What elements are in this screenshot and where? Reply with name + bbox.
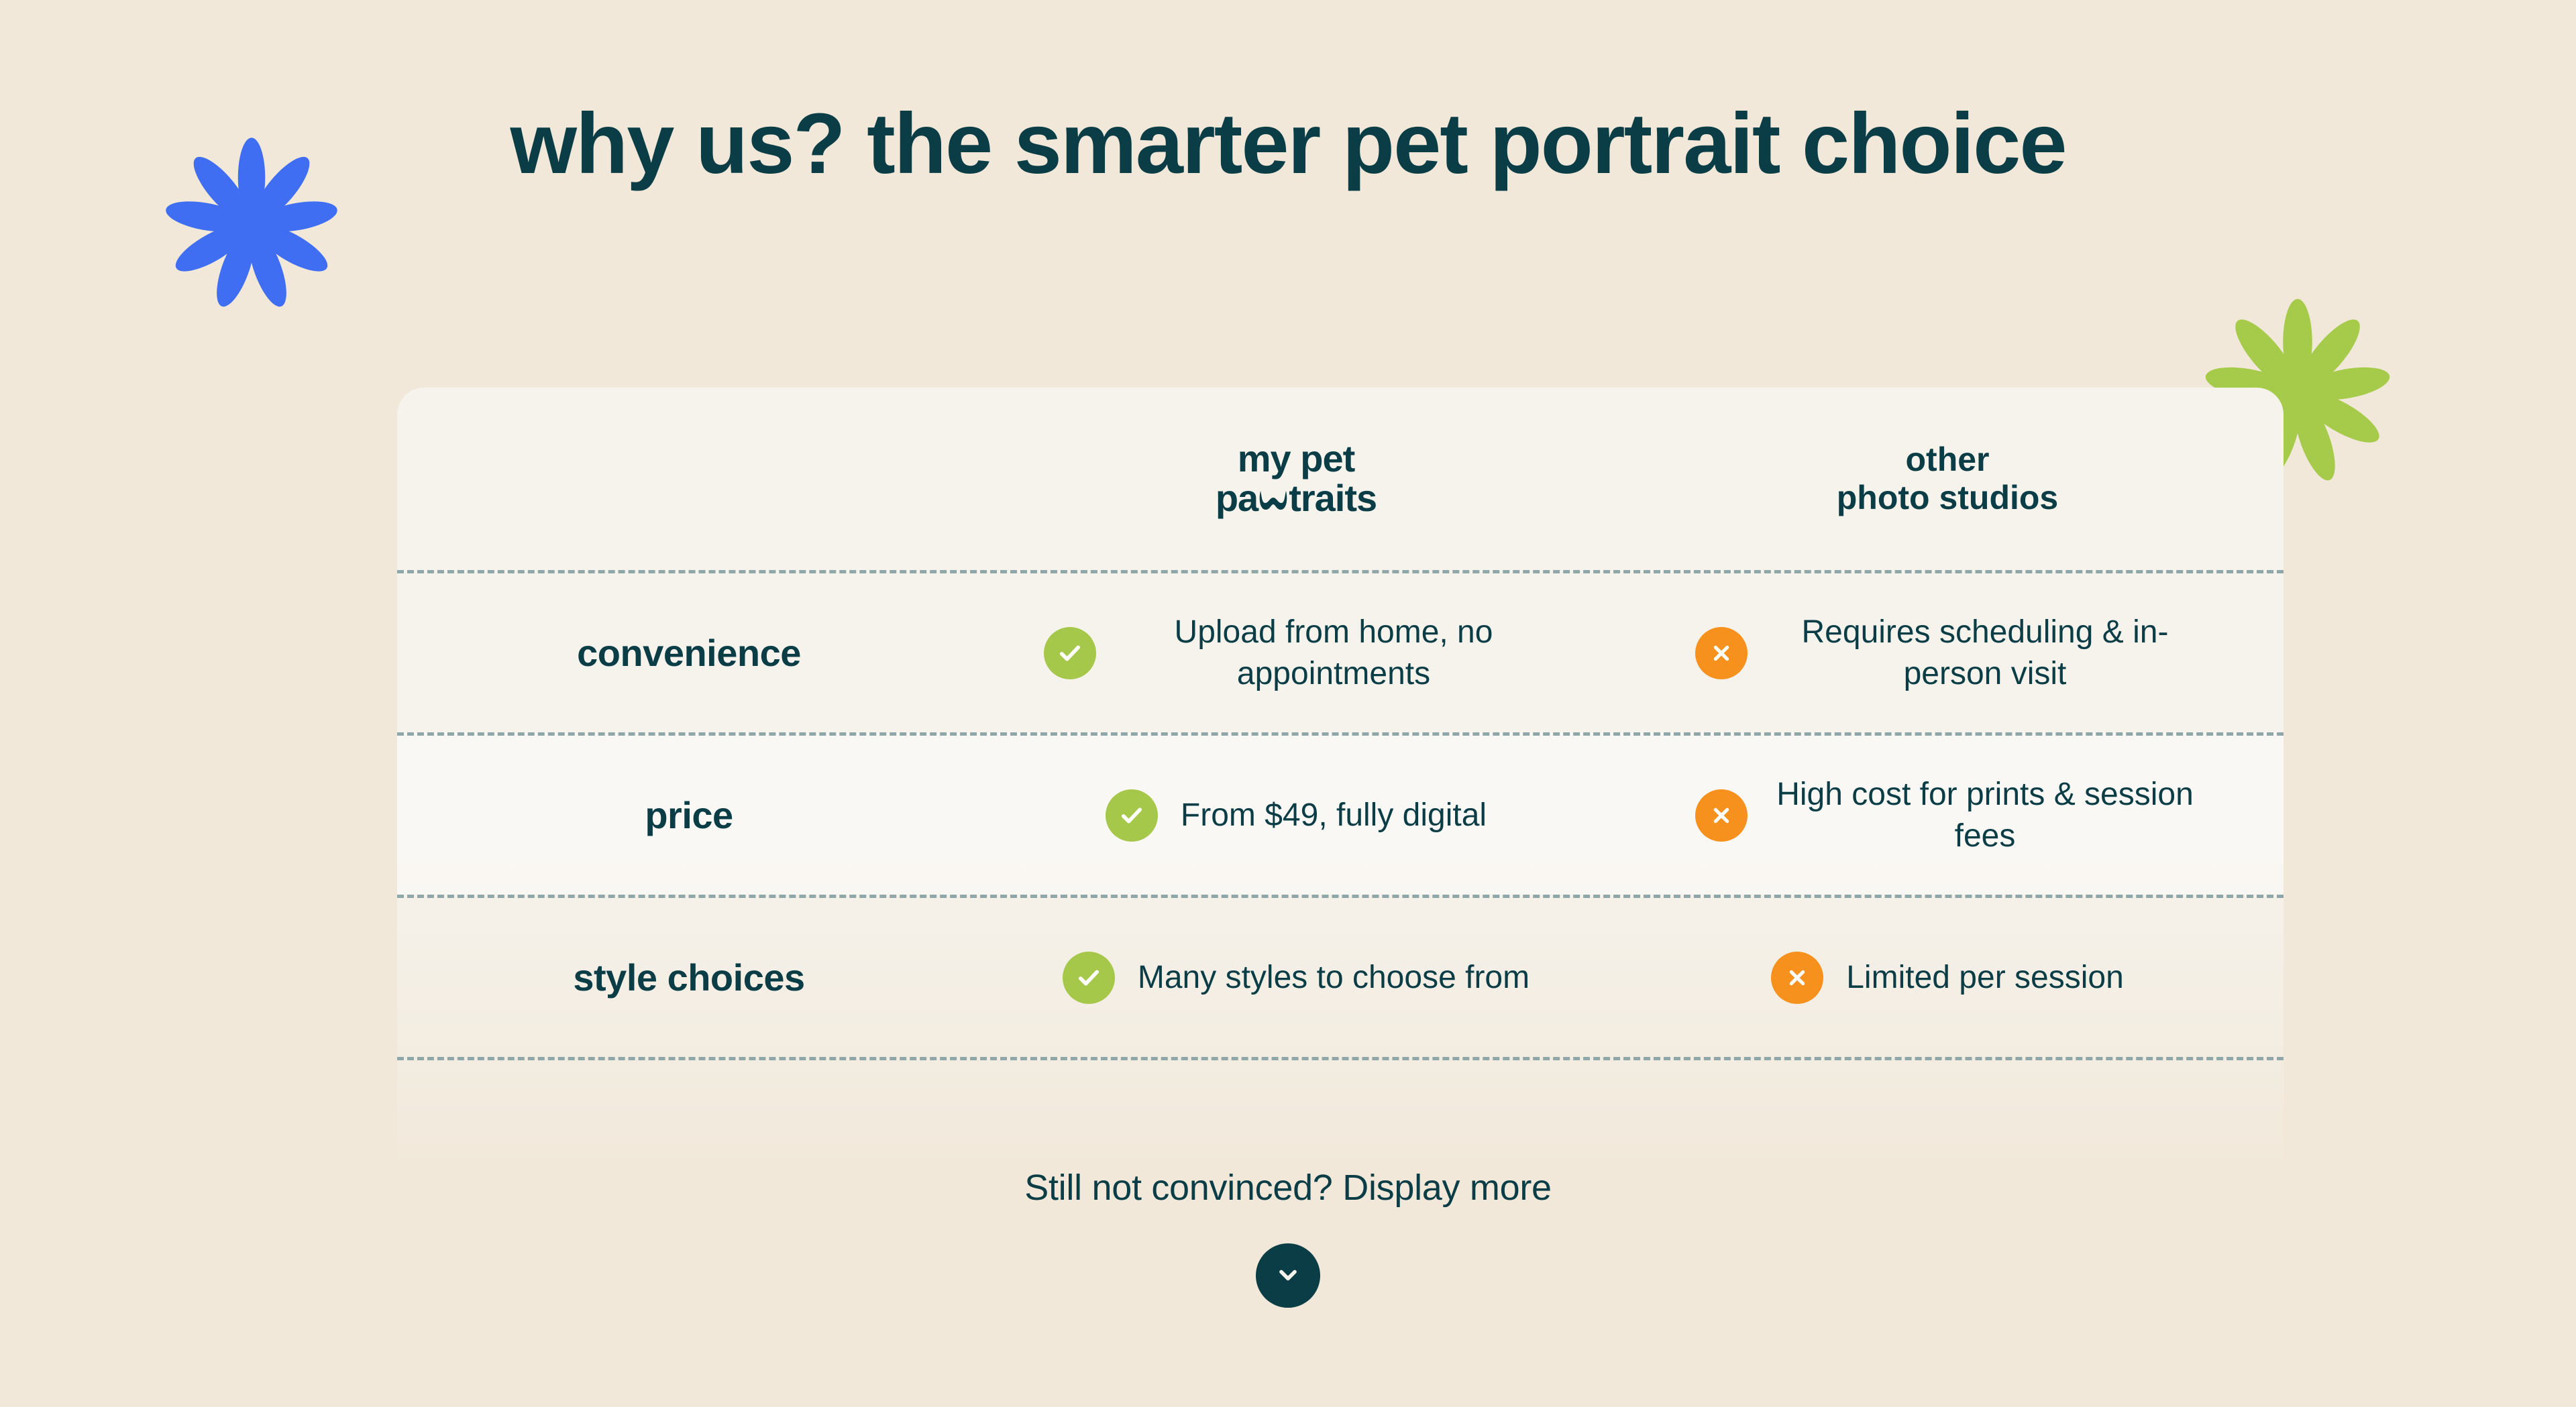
table-row: convenience Upload from home, no appoint… xyxy=(397,570,2284,732)
display-more-button[interactable] xyxy=(1256,1243,1320,1308)
other-line-1: other xyxy=(1611,441,2284,479)
footer: Still not convinced? Display more xyxy=(0,1167,2576,1308)
paw-icon xyxy=(1258,482,1289,521)
check-circle-icon xyxy=(1063,952,1115,1004)
row-2-ours-text: Many styles to choose from xyxy=(1138,957,1529,998)
chevron-down-icon xyxy=(1273,1260,1303,1292)
other-line-2: photo studios xyxy=(1611,479,2284,517)
page-title: why us? the smarter pet portrait choice xyxy=(0,101,2576,188)
brand-logo: my pet patraits xyxy=(1216,439,1377,518)
x-circle-icon xyxy=(1695,789,1748,842)
comparison-table: my pet patraits other photo studios conv… xyxy=(397,388,2284,1179)
comparison-card: my pet patraits other photo studios conv… xyxy=(397,388,2284,1179)
column-header-other-photo-studios: other photo studios xyxy=(1611,441,2284,517)
brand-pa: pa xyxy=(1216,477,1258,519)
row-1-theirs-cell: High cost for prints & session fees xyxy=(1611,774,2284,856)
row-0-theirs-text: Requires scheduling & in-person visit xyxy=(1770,612,2200,694)
column-header-my-pet-pawtraits: my pet patraits xyxy=(981,439,1611,518)
brand-traits: traits xyxy=(1289,477,1377,519)
x-circle-icon xyxy=(1695,627,1748,679)
row-2-ours-cell: Many styles to choose from xyxy=(981,952,1611,1004)
table-row: style choices Many styles to choose from… xyxy=(397,895,2284,1057)
brand-line-2: patraits xyxy=(1216,479,1377,518)
row-label-convenience: convenience xyxy=(397,631,981,675)
row-2-theirs-text: Limited per session xyxy=(1846,957,2124,998)
row-2-theirs-cell: Limited per session xyxy=(1611,952,2284,1004)
row-1-ours-cell: From $49, fully digital xyxy=(981,789,1611,842)
row-0-ours-cell: Upload from home, no appointments xyxy=(981,612,1611,694)
display-more-prompt: Still not convinced? Display more xyxy=(0,1167,2576,1208)
row-0-theirs-cell: Requires scheduling & in-person visit xyxy=(1611,612,2284,694)
row-1-theirs-text: High cost for prints & session fees xyxy=(1770,774,2200,856)
row-0-ours-text: Upload from home, no appointments xyxy=(1119,612,1548,694)
row-label-price: price xyxy=(397,793,981,837)
check-circle-icon xyxy=(1106,789,1158,842)
table-bottom-divider xyxy=(397,1057,2284,1060)
row-label-style-choices: style choices xyxy=(397,956,981,999)
check-circle-icon xyxy=(1044,627,1096,679)
row-1-ours-text: From $49, fully digital xyxy=(1181,795,1487,836)
x-circle-icon xyxy=(1771,952,1823,1004)
table-header-row: my pet patraits other photo studios xyxy=(397,388,2284,570)
brand-line-1: my pet xyxy=(1216,439,1377,479)
table-row: price From $49, fully digital High cost … xyxy=(397,732,2284,895)
